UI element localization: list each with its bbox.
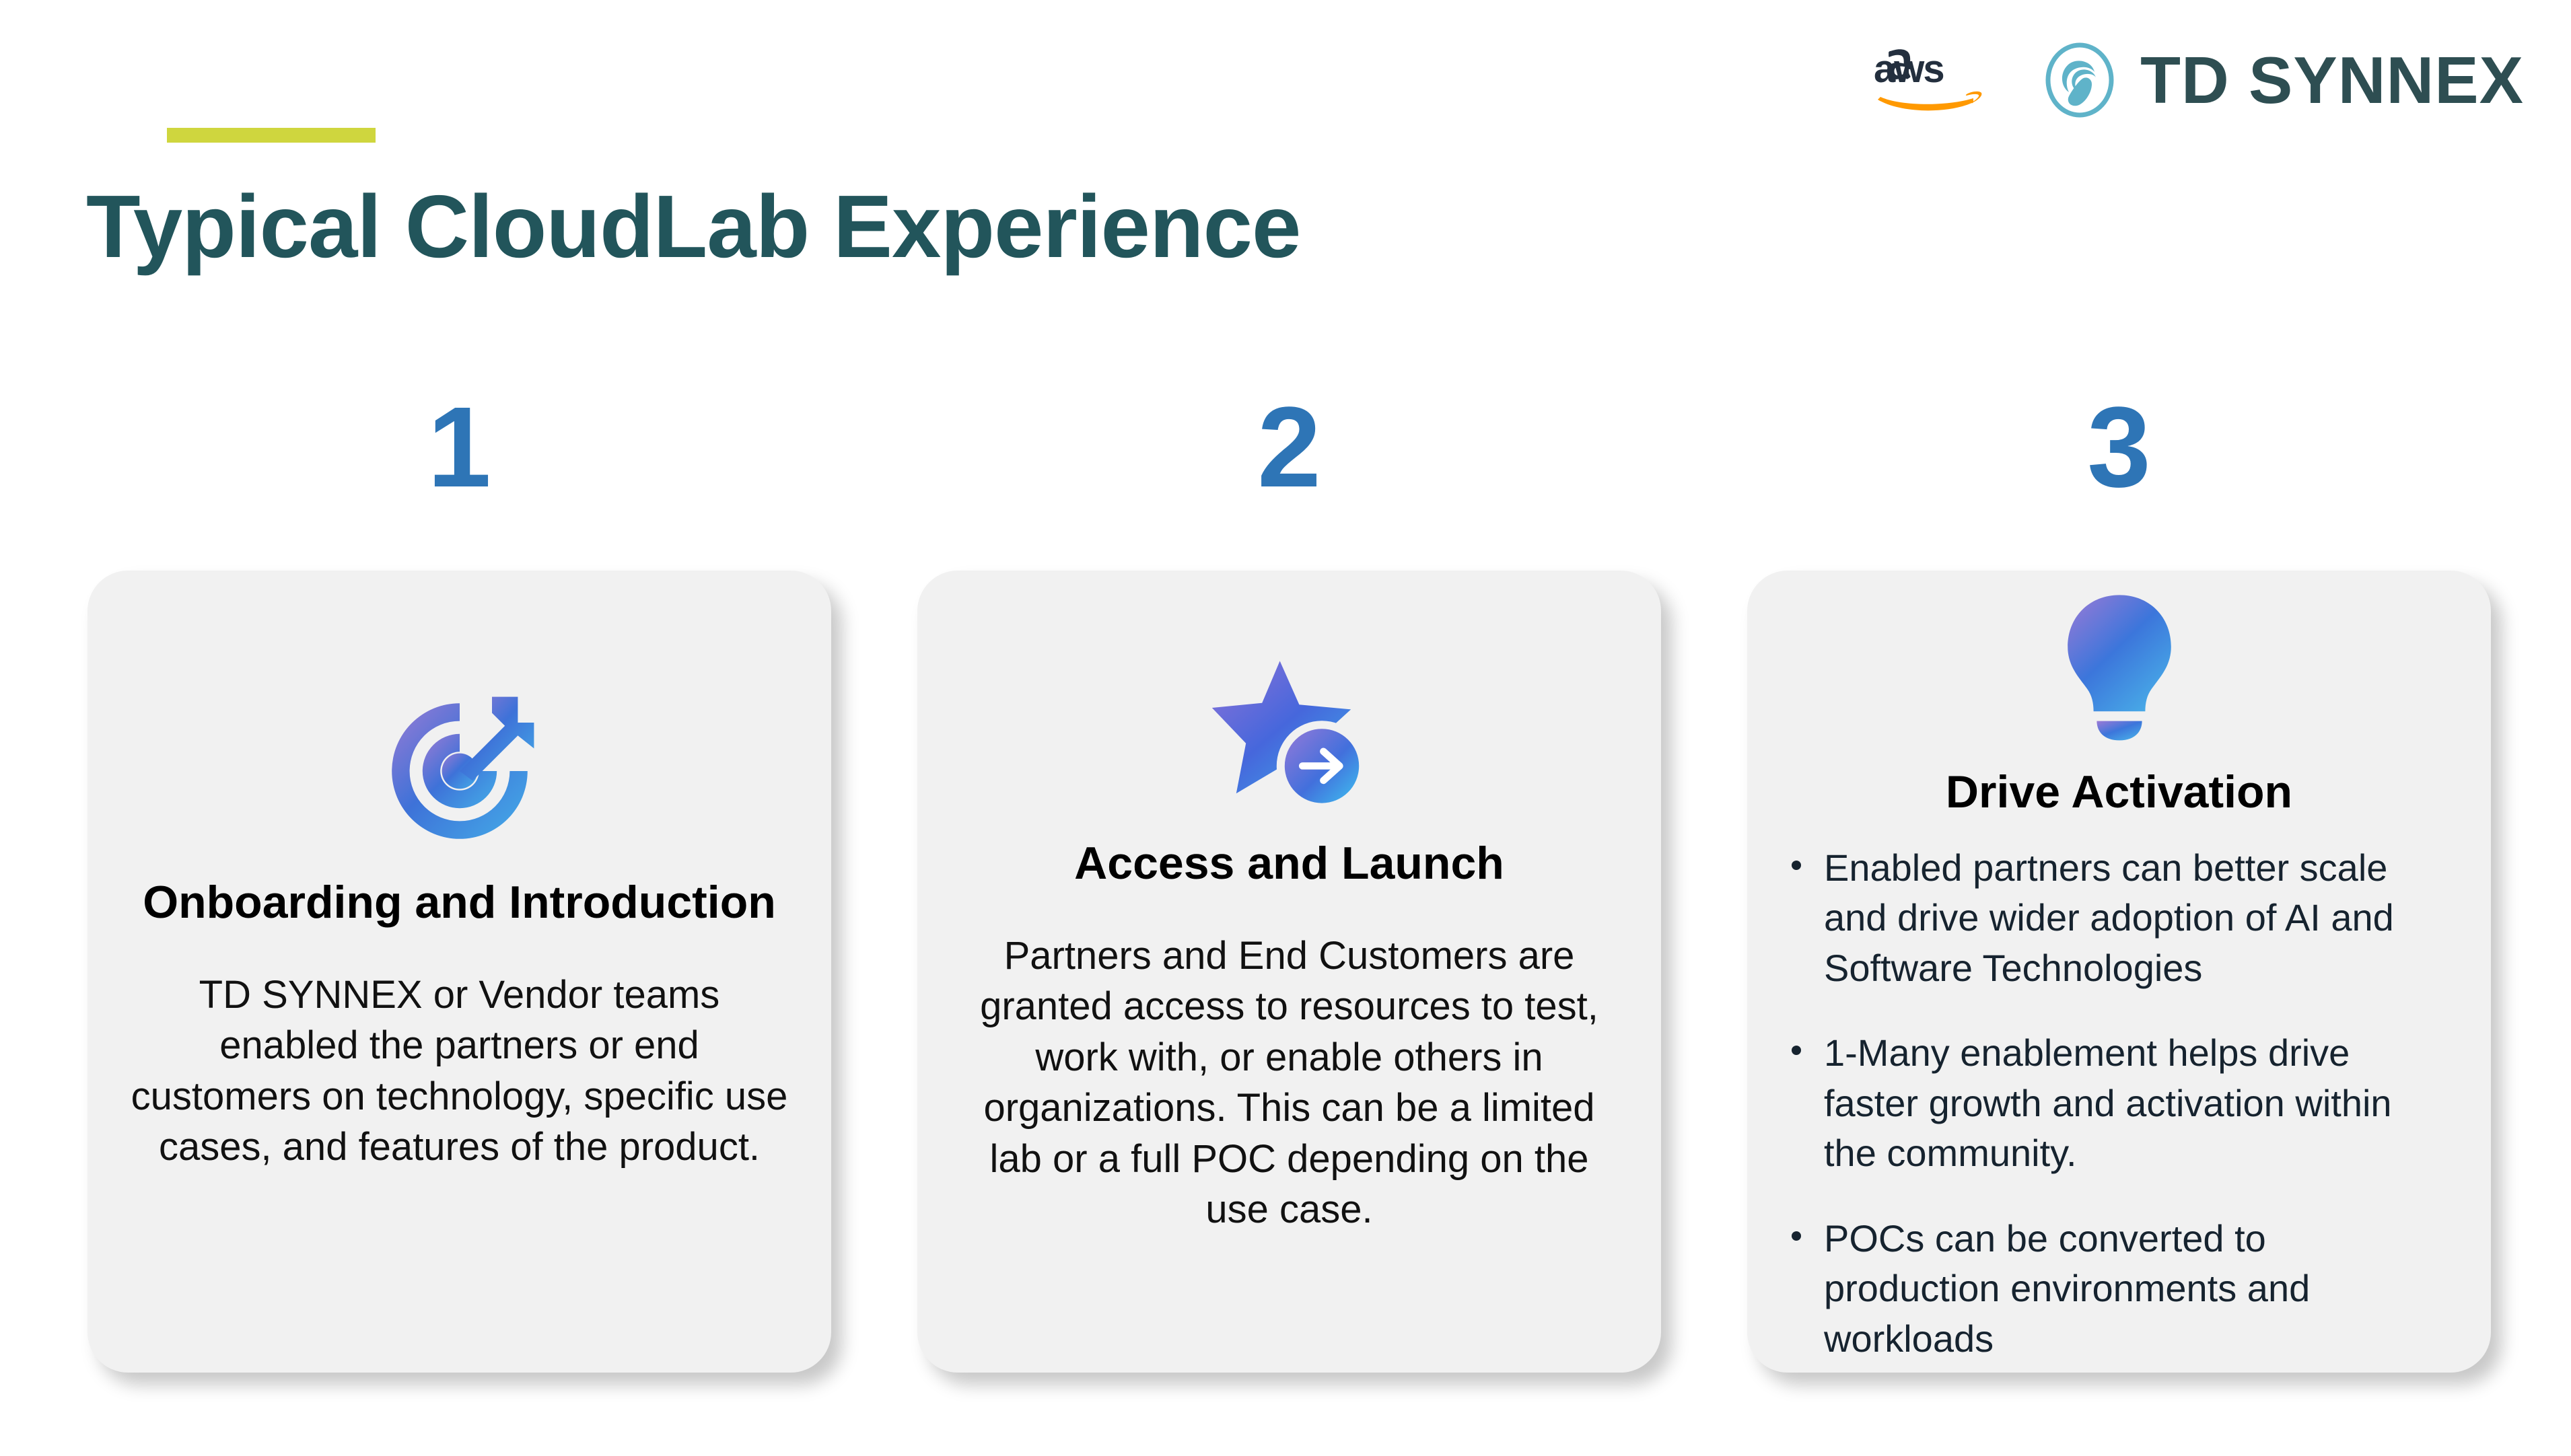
tdsynnex-swirl-icon [2042, 42, 2117, 118]
step-card-2[interactable]: Access and Launch Partners and End Custo… [917, 571, 1661, 1373]
title-accent-bar [167, 128, 376, 143]
step-number-1: 1 [87, 390, 831, 505]
card-bullet-list-3: Enabled partners can better scale and dr… [1786, 843, 2452, 1364]
bullet-dot-icon [1792, 1231, 1801, 1241]
svg-text:aws: aws [1874, 47, 1944, 91]
step-card-3[interactable]: Drive Activation Enabled partners can be… [1747, 571, 2491, 1373]
step-number-3: 3 [1747, 390, 2491, 505]
tdsynnex-wordmark: TD SYNNEX [2140, 47, 2524, 113]
tdsynnex-logo: TD SYNNEX [2042, 42, 2524, 118]
aws-logo-icon: aws [1872, 40, 1994, 120]
card-body-2: Partners and End Customers are granted a… [956, 931, 1622, 1235]
bullet-text: Enabled partners can better scale and dr… [1824, 846, 2394, 989]
page-title: Typical CloudLab Experience [86, 180, 1300, 274]
card-body-1: TD SYNNEX or Vendor teams enabled the pa… [127, 970, 792, 1173]
list-item: 1-Many enablement helps drive faster gro… [1786, 1028, 2452, 1178]
lightbulb-icon [2039, 585, 2200, 747]
target-arrow-icon [379, 690, 540, 852]
list-item: POCs can be converted to production envi… [1786, 1214, 2452, 1364]
bullet-text: 1-Many enablement helps drive faster gro… [1824, 1031, 2392, 1174]
card-title-1: Onboarding and Introduction [143, 875, 776, 931]
star-arrow-icon [1209, 651, 1370, 813]
logo-bar: aws TD SYNNEX [1872, 40, 2524, 120]
aws-logo: aws [1872, 40, 1994, 120]
step-number-2: 2 [917, 390, 1661, 505]
card-title-2: Access and Launch [1074, 836, 1504, 891]
list-item: Enabled partners can better scale and dr… [1786, 843, 2452, 993]
step-card-1[interactable]: Onboarding and Introduction TD SYNNEX or… [87, 571, 831, 1373]
bullet-dot-icon [1792, 1046, 1801, 1055]
bullet-dot-icon [1792, 861, 1801, 870]
card-title-3: Drive Activation [1946, 764, 2292, 820]
bullet-text: POCs can be converted to production envi… [1824, 1217, 2310, 1360]
